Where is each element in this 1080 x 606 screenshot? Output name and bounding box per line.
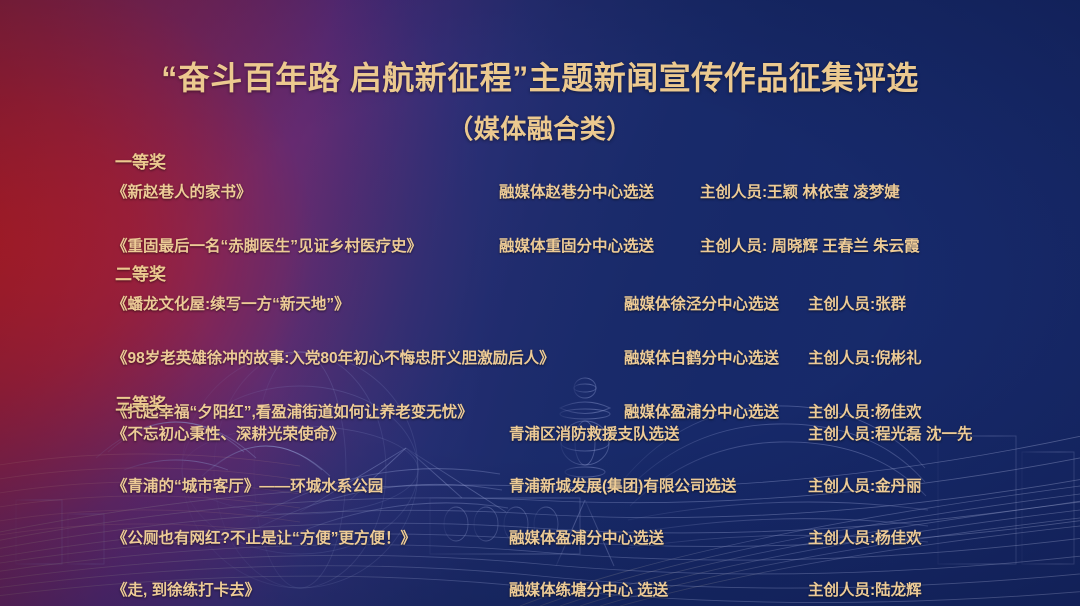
entry-submitter: 融媒体练塘分中心 选送 — [509, 578, 668, 604]
award-entry-row: 《重固最后一名“赤脚医生”见证乡村医疗史》 融媒体重固分中心选送 主创人员: 周… — [0, 234, 1080, 260]
entry-title: 《蟠龙文化屋:续写一方“新天地”》 — [112, 292, 350, 318]
entry-title: 《98岁老英雄徐冲的故事:入党80年初心不悔忠肝义胆激励后人》 — [112, 346, 555, 372]
entry-title: 《走, 到徐练打卡去》 — [112, 578, 260, 604]
award-entry-row: 《蟠龙文化屋:续写一方“新天地”》 融媒体徐泾分中心选送 主创人员:张群 — [0, 292, 1080, 318]
award-entry-row: 《公厕也有网红?不止是让“方便”更方便！》 融媒体盈浦分中心选送 主创人员:杨佳… — [0, 526, 1080, 552]
award-entry-row: 《不忘初心秉性、深耕光荣使命》 青浦区消防救援支队选送 主创人员:程光磊 沈一先 — [0, 422, 1080, 448]
entry-creators: 主创人员:倪彬礼 — [808, 346, 922, 372]
entry-creators: 主创人员: 周晓辉 王春兰 朱云霞 — [700, 234, 920, 260]
award-poster: “奋斗百年路 启航新征程”主题新闻宣传作品征集评选 （媒体融合类） 一等奖 《新… — [0, 0, 1080, 606]
poster-title-block: “奋斗百年路 启航新征程”主题新闻宣传作品征集评选 （媒体融合类） — [0, 58, 1080, 146]
entry-creators: 主创人员:张群 — [808, 292, 906, 318]
entry-submitter: 青浦新城发展(集团)有限公司选送 — [509, 474, 736, 500]
entry-submitter: 青浦区消防救援支队选送 — [509, 422, 680, 448]
award-entry-row: 《青浦的“城市客厅》——环城水系公园 青浦新城发展(集团)有限公司选送 主创人员… — [0, 474, 1080, 500]
entry-title: 《重固最后一名“赤脚医生”见证乡村医疗史》 — [112, 234, 422, 260]
award-entry-row: 《98岁老英雄徐冲的故事:入党80年初心不悔忠肝义胆激励后人》 融媒体白鹤分中心… — [0, 346, 1080, 372]
poster-title-main: “奋斗百年路 启航新征程”主题新闻宣传作品征集评选 — [0, 58, 1080, 98]
award-entry-row: 《走, 到徐练打卡去》 融媒体练塘分中心 选送 主创人员:陆龙辉 — [0, 578, 1080, 604]
entry-submitter: 融媒体徐泾分中心选送 — [624, 292, 779, 318]
entry-title: 《青浦的“城市客厅》——环城水系公园 — [112, 474, 383, 500]
award-entry-row: 《新赵巷人的家书》 融媒体赵巷分中心选送 主创人员:王颖 林依莹 凌梦婕 — [0, 180, 1080, 206]
entry-submitter: 融媒体重固分中心选送 — [499, 234, 654, 260]
entry-creators: 主创人员:陆龙辉 — [808, 578, 922, 604]
entry-creators: 主创人员:王颖 林依莹 凌梦婕 — [700, 180, 900, 206]
entry-creators: 主创人员:金丹丽 — [808, 474, 922, 500]
award-heading-second-prize: 二等奖 — [115, 266, 166, 283]
entry-submitter: 融媒体白鹤分中心选送 — [624, 346, 779, 372]
poster-title-subtitle: （媒体融合类） — [0, 109, 1080, 146]
entry-creators: 主创人员:杨佳欢 — [808, 526, 922, 552]
entry-submitter: 融媒体赵巷分中心选送 — [499, 180, 654, 206]
entry-title: 《不忘初心秉性、深耕光荣使命》 — [112, 422, 345, 448]
entry-creators: 主创人员:程光磊 沈一先 — [808, 422, 972, 448]
award-heading-first-prize: 一等奖 — [115, 154, 166, 171]
award-heading-third-prize: 三等奖 — [115, 396, 166, 413]
entry-title: 《公厕也有网红?不止是让“方便”更方便！》 — [112, 526, 416, 552]
entry-submitter: 融媒体盈浦分中心选送 — [509, 526, 664, 552]
entry-title: 《新赵巷人的家书》 — [112, 180, 252, 206]
